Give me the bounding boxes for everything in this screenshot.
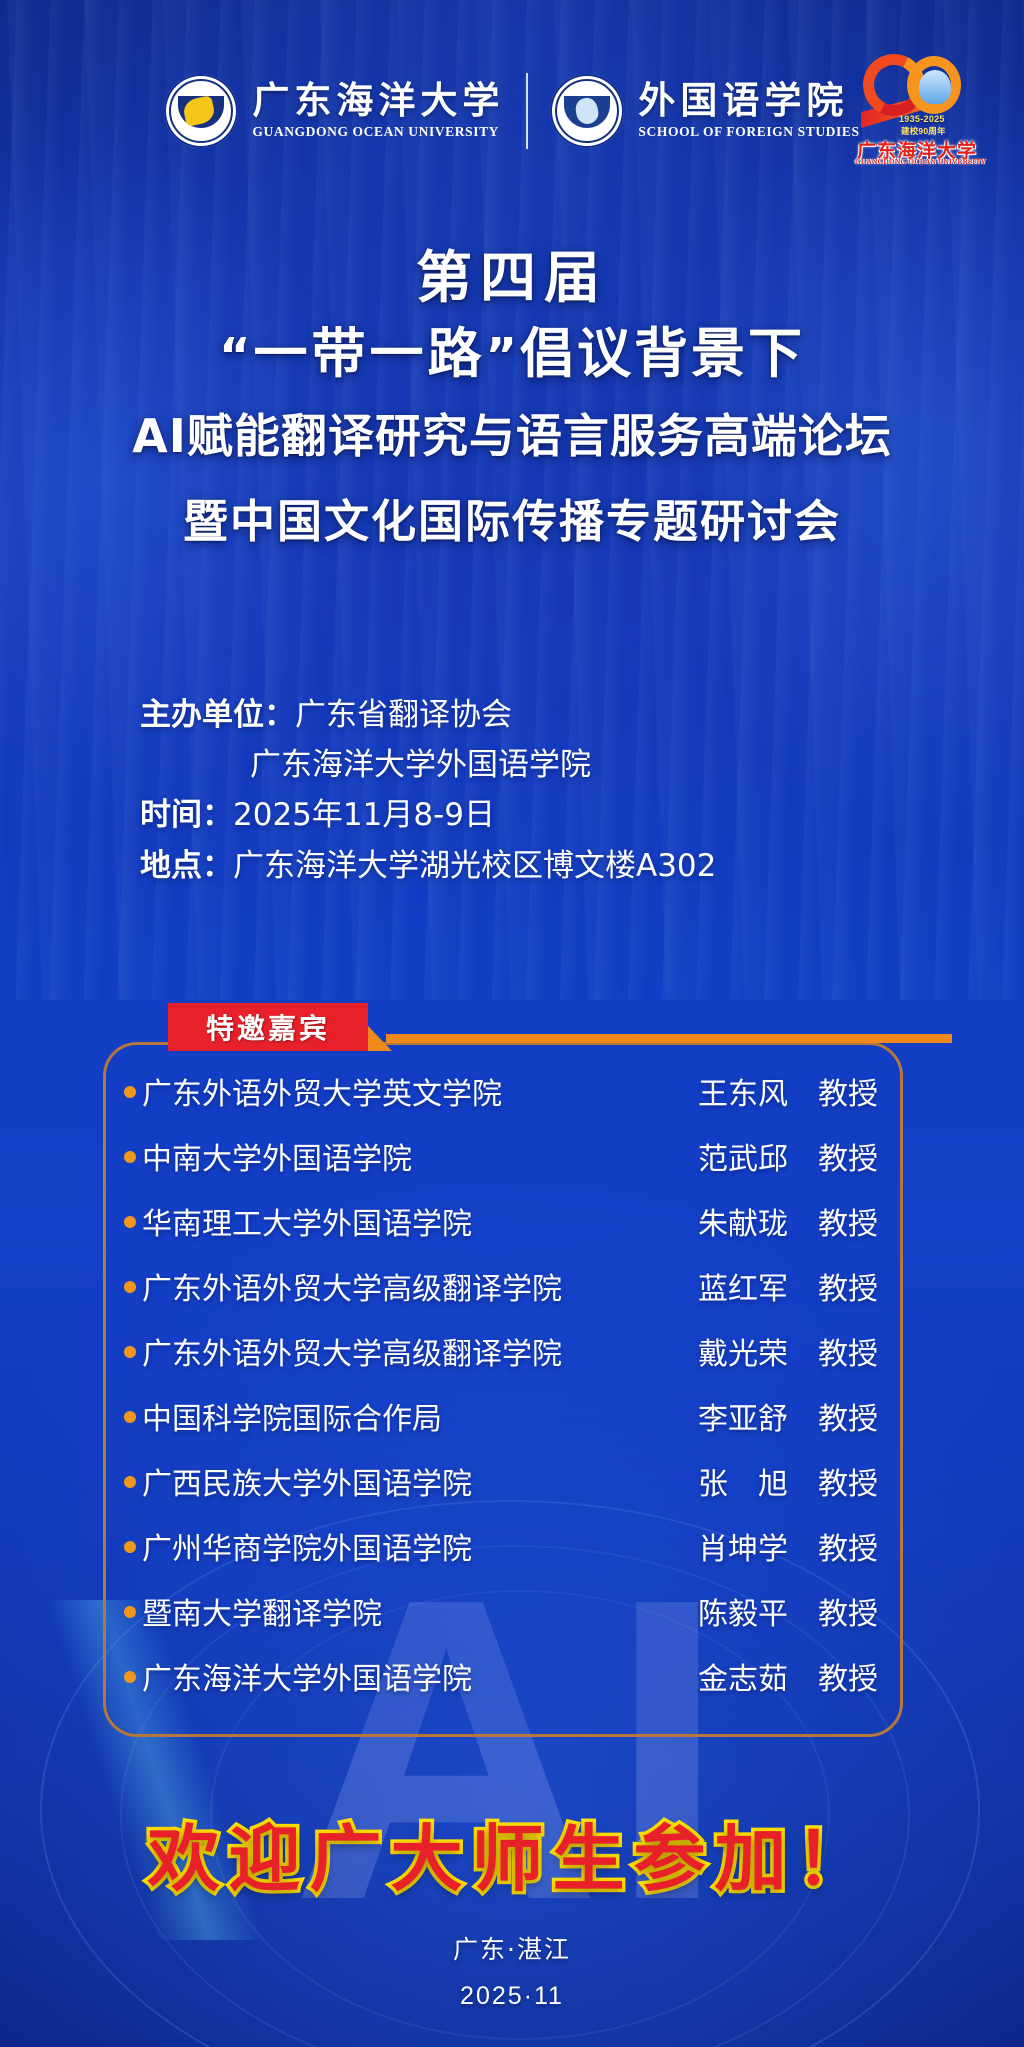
guest-person: 王东风教授 — [646, 1069, 878, 1113]
time-value: 2025年11月8-9日 — [233, 797, 495, 833]
title-close-quote: ” — [486, 328, 521, 384]
guest-title: 教授 — [818, 1207, 878, 1242]
time-row: 时间：2025年11月8-9日 — [0, 790, 1024, 840]
place-row: 地点：广东海洋大学湖光校区博文楼A302 — [0, 841, 1024, 891]
guest-name: 范武邱 — [698, 1134, 818, 1178]
logo-divider — [526, 73, 528, 149]
bullet-icon — [124, 1671, 136, 1683]
guest-title: 教授 — [818, 1337, 878, 1372]
guest-person: 李亚舒教授 — [646, 1394, 878, 1438]
place-label: 地点： — [140, 848, 233, 884]
guest-organization: 广东外语外贸大学高级翻译学院 — [142, 1329, 646, 1373]
guest-person: 金志茹教授 — [646, 1654, 878, 1698]
organizer-label: 主办单位： — [140, 697, 295, 733]
title-brush-phrase: 一带一路 — [254, 322, 486, 385]
bullet-icon — [124, 1281, 136, 1293]
school-name-cn: 外国语学院 — [638, 82, 859, 121]
guest-person: 范武邱教授 — [646, 1134, 878, 1178]
organizer-row-2: 广东海洋大学外国语学院 — [0, 740, 1024, 790]
school-logo: 外国语学院 SCHOOL OF FOREIGN STUDIES — [550, 74, 859, 148]
title-line-4: 暨中国文化国际传播专题研讨会 — [0, 493, 1024, 552]
bullet-icon — [124, 1151, 136, 1163]
guest-organization: 广东外语外贸大学高级翻译学院 — [142, 1264, 646, 1308]
university-name-en: GUANGDONG OCEAN UNIVERSITY — [252, 124, 504, 140]
organizer-value-1: 广东省翻译协会 — [295, 697, 512, 733]
anniversary-years: 1935-2025 — [899, 114, 945, 124]
guest-title: 教授 — [818, 1402, 878, 1437]
guest-person: 肖坤学教授 — [646, 1524, 878, 1568]
guest-organization: 广州华商学院外国语学院 — [142, 1524, 646, 1568]
place-value: 广东海洋大学湖光校区博文楼A302 — [233, 848, 716, 884]
school-of-foreign-studies-seal-icon — [550, 74, 624, 148]
guest-row: 华南理工大学外国语学院朱献珑教授 — [124, 1199, 878, 1264]
ocean-university-seal-icon — [164, 74, 238, 148]
bullet-icon — [124, 1476, 136, 1488]
guest-name: 张 旭 — [698, 1459, 818, 1503]
anniversary-name-en: GUANGDONG OCEAN UNIVERSITY — [855, 157, 975, 166]
university-name-cn: 广东海洋大学 — [252, 82, 504, 121]
title-open-quote: “ — [219, 328, 254, 384]
guest-row: 中国科学院国际合作局李亚舒教授 — [124, 1394, 878, 1459]
guest-person: 戴光荣教授 — [646, 1329, 878, 1373]
guest-row: 广东外语外贸大学高级翻译学院戴光荣教授 — [124, 1329, 878, 1394]
title-line-3: AI赋能翻译研究与语言服务高端论坛 — [0, 407, 1024, 467]
guest-title: 教授 — [818, 1597, 878, 1632]
title-line-2-rest: 倡议背景下 — [520, 322, 805, 385]
guest-name: 蓝红军 — [698, 1264, 818, 1308]
title-line-1: 第四届 — [0, 248, 1024, 311]
footer-place: 广东·湛江 — [0, 1930, 1024, 1966]
guest-title: 教授 — [818, 1272, 878, 1307]
guest-badge-label: 特邀嘉宾 — [206, 1007, 330, 1047]
footer-date: 2025·11 — [0, 1982, 1024, 2011]
title-line-2: “一带一路”倡议背景下 — [0, 319, 1024, 389]
poster-title: 第四届 “一带一路”倡议背景下 AI赋能翻译研究与语言服务高端论坛 暨中国文化国… — [0, 248, 1024, 551]
organizer-value-2: 广东海洋大学外国语学院 — [250, 747, 591, 783]
guest-name: 朱献珑 — [698, 1199, 818, 1243]
bullet-icon — [124, 1346, 136, 1358]
guest-title: 教授 — [818, 1077, 878, 1112]
guest-title: 教授 — [818, 1142, 878, 1177]
guest-organization: 华南理工大学外国语学院 — [142, 1199, 646, 1243]
guest-title: 教授 — [818, 1532, 878, 1567]
welcome-message: 欢迎广大师生参加！ — [0, 1800, 1024, 1905]
guest-person: 朱献珑教授 — [646, 1199, 878, 1243]
guest-name: 李亚舒 — [698, 1394, 818, 1438]
poster-root: AI 广东海洋大学 GUANGDONG OCEAN UNIVERSITY 外国语… — [0, 0, 1024, 2047]
guest-organization: 中南大学外国语学院 — [142, 1134, 646, 1178]
guest-row: 广东海洋大学外国语学院金志茹教授 — [124, 1654, 878, 1719]
guest-organization: 广东外语外贸大学英文学院 — [142, 1069, 646, 1113]
guest-name: 肖坤学 — [698, 1524, 818, 1568]
school-name-en: SCHOOL OF FOREIGN STUDIES — [638, 124, 859, 140]
guest-row: 广东外语外贸大学英文学院王东风教授 — [124, 1069, 878, 1134]
bullet-icon — [124, 1411, 136, 1423]
guest-name: 陈毅平 — [698, 1589, 818, 1633]
bullet-icon — [124, 1216, 136, 1228]
guest-row: 中南大学外国语学院范武邱教授 — [124, 1134, 878, 1199]
guest-badge: 特邀嘉宾 — [168, 1003, 368, 1051]
ninety-anniversary-icon: 1935-2025 建校90周年 广东海洋大学 GUANGDONG OCEAN … — [855, 50, 975, 170]
event-meta: 主办单位：广东省翻译协会 广东海洋大学外国语学院 时间：2025年11月8-9日… — [0, 690, 1024, 891]
bullet-icon — [124, 1086, 136, 1098]
guest-name: 戴光荣 — [698, 1329, 818, 1373]
guest-organization: 广西民族大学外国语学院 — [142, 1459, 646, 1503]
guest-row: 广东外语外贸大学高级翻译学院蓝红军教授 — [124, 1264, 878, 1329]
guest-person: 陈毅平教授 — [646, 1589, 878, 1633]
guest-person: 张 旭教授 — [646, 1459, 878, 1503]
guest-row: 广州华商学院外国语学院肖坤学教授 — [124, 1524, 878, 1589]
guest-name: 金志茹 — [698, 1654, 818, 1698]
guest-name: 王东风 — [698, 1069, 818, 1113]
guest-organization: 暨南大学翻译学院 — [142, 1589, 646, 1633]
university-logo: 广东海洋大学 GUANGDONG OCEAN UNIVERSITY — [164, 74, 504, 148]
bullet-icon — [124, 1541, 136, 1553]
guest-title: 教授 — [818, 1662, 878, 1697]
guest-badge-bar — [386, 1034, 952, 1043]
guest-row: 广西民族大学外国语学院张 旭教授 — [124, 1459, 878, 1524]
guest-row: 暨南大学翻译学院陈毅平教授 — [124, 1589, 878, 1654]
organizer-row-1: 主办单位：广东省翻译协会 — [0, 690, 1024, 740]
guest-organization: 中国科学院国际合作局 — [142, 1394, 646, 1438]
bullet-icon — [124, 1606, 136, 1618]
guest-organization: 广东海洋大学外国语学院 — [142, 1654, 646, 1698]
guest-panel: 广东外语外贸大学英文学院王东风教授中南大学外国语学院范武邱教授华南理工大学外国语… — [103, 1042, 903, 1737]
guest-list: 广东外语外贸大学英文学院王东风教授中南大学外国语学院范武邱教授华南理工大学外国语… — [106, 1069, 900, 1719]
guest-person: 蓝红军教授 — [646, 1264, 878, 1308]
time-label: 时间： — [140, 797, 233, 833]
guest-title: 教授 — [818, 1467, 878, 1502]
